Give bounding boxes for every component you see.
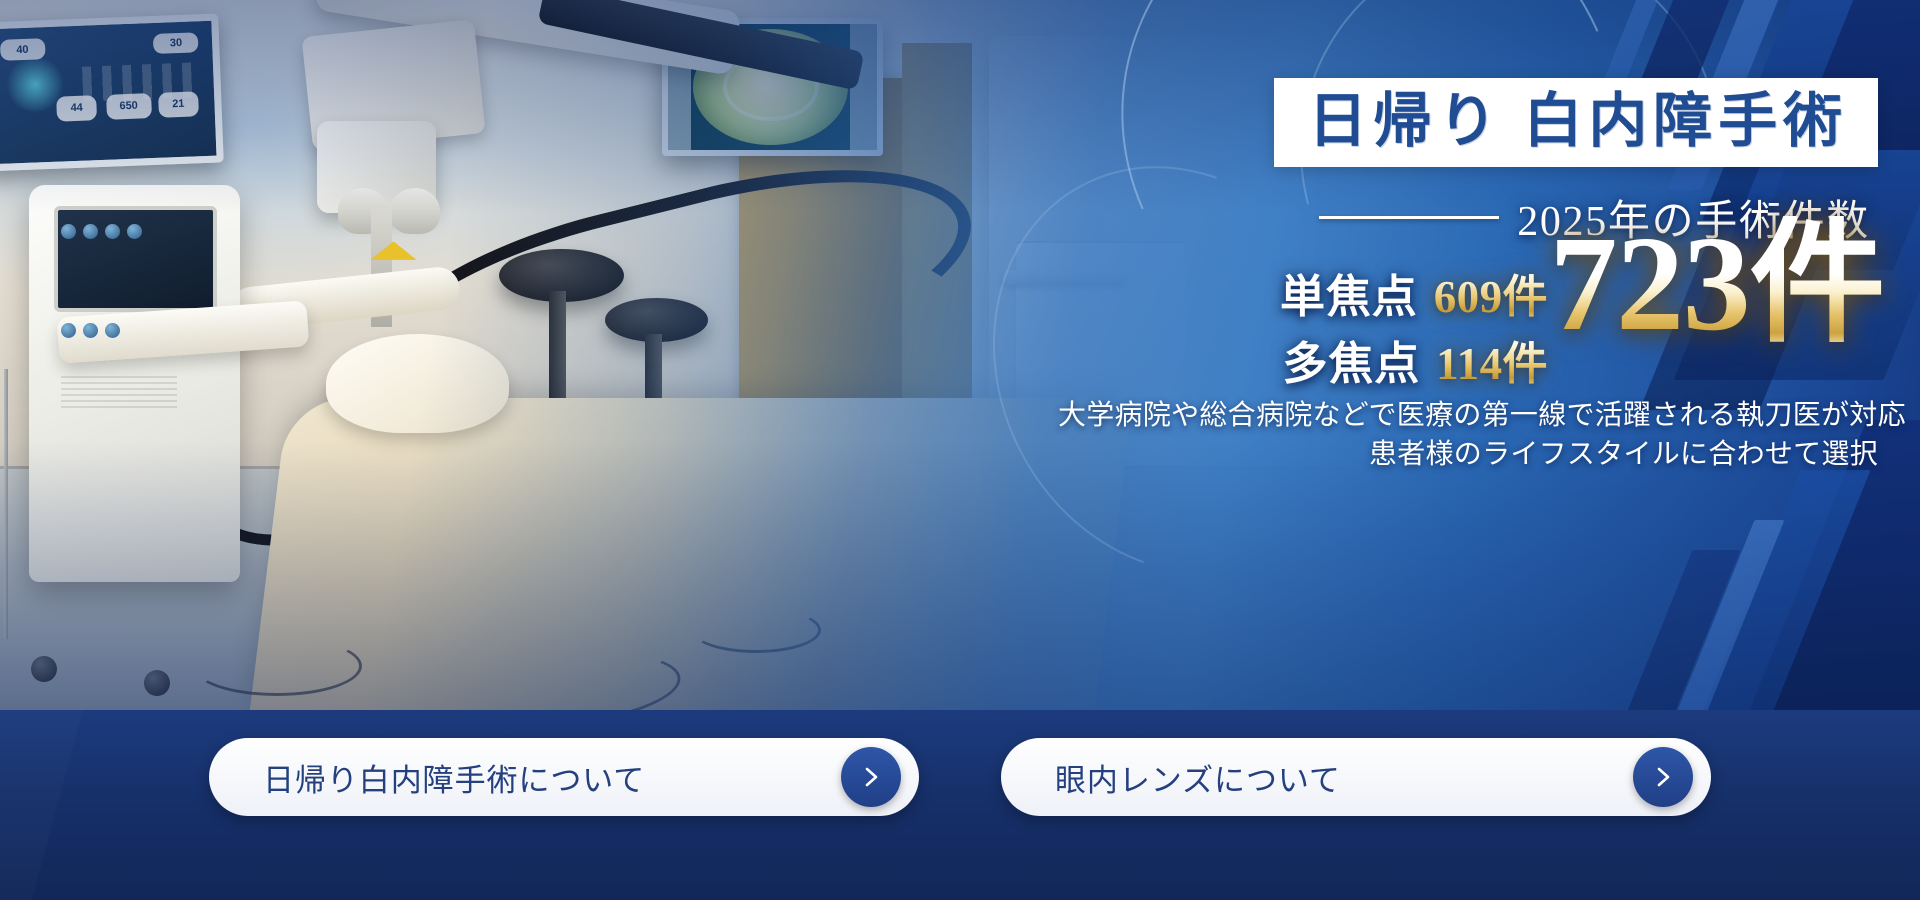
title-box: 日帰り 白内障手術 — [1274, 78, 1878, 167]
description-line-2: 患者様のライフスタイルに合わせて選択 — [1058, 435, 1878, 474]
bottom-bar: 日帰り白内障手術について 眼内レンズについて — [0, 710, 1920, 900]
hero-content: 日帰り 白内障手術 2025年の手術件数 単焦点 609件 多焦点 114件 7… — [1058, 78, 1878, 473]
description-line-1: 大学病院や総合病院などで医療の第一線で活躍される執刀医が対応 — [1058, 396, 1878, 435]
cta-button-group: 日帰り白内障手術について 眼内レンズについて — [0, 738, 1920, 816]
cta-label: 日帰り白内障手術について — [263, 755, 841, 800]
stat-value-single-focus: 609件 — [1434, 260, 1548, 325]
stat-row: 多焦点 114件 — [1280, 327, 1548, 392]
statistics-block: 単焦点 609件 多焦点 114件 723件 — [1058, 254, 1878, 394]
heading-rule — [1319, 216, 1499, 219]
total-surgery-count: 723件 — [1549, 216, 1884, 352]
description-block: 大学病院や総合病院などで医療の第一線で活躍される執刀医が対応 患者様のライフスタ… — [1058, 396, 1878, 473]
cta-button-cataract-surgery[interactable]: 日帰り白内障手術について — [209, 738, 919, 816]
statistics-breakdown: 単焦点 609件 多焦点 114件 — [1280, 260, 1548, 394]
hero-banner: 40 44 650 21 30 — [0, 0, 1920, 900]
stat-label-single-focus: 単焦点 — [1280, 260, 1418, 325]
chevron-right-icon — [841, 747, 901, 807]
stat-label-multi-focus: 多焦点 — [1282, 327, 1420, 392]
cta-button-intraocular-lens[interactable]: 眼内レンズについて — [1001, 738, 1711, 816]
cta-label: 眼内レンズについて — [1055, 755, 1633, 800]
page-title: 日帰り 白内障手術 — [1308, 92, 1848, 151]
stat-row: 単焦点 609件 — [1280, 260, 1548, 325]
stat-value-multi-focus: 114件 — [1436, 327, 1548, 392]
chevron-right-icon — [1633, 747, 1693, 807]
